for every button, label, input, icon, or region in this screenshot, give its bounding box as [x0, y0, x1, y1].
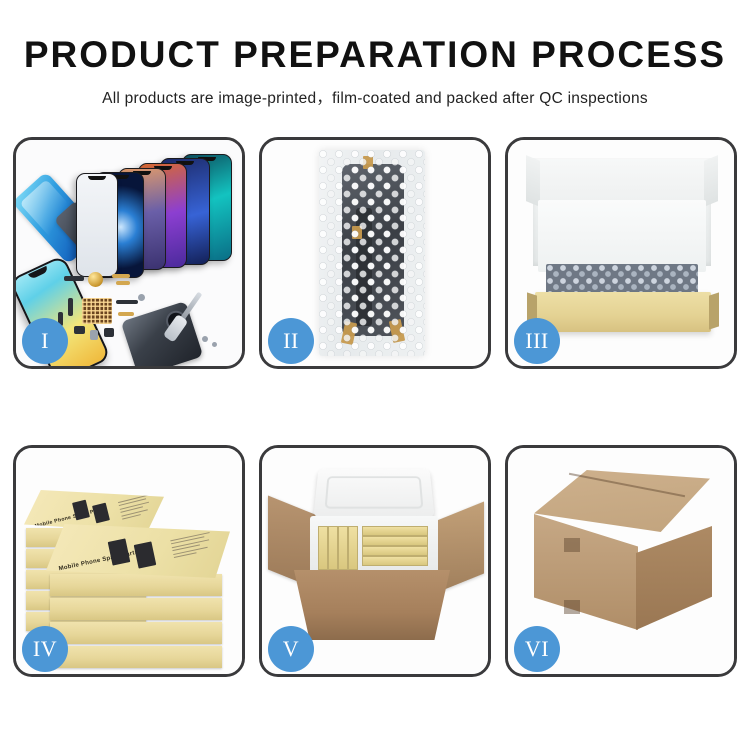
inner-yellow-box: [328, 526, 338, 570]
phone-glass-front-icon: [76, 173, 118, 277]
part-vibrator-icon: [104, 328, 114, 337]
carton-flap-seam-upper-icon: [564, 538, 580, 552]
part-metal-clip-icon: [90, 330, 98, 340]
step-badge-6: VI: [514, 626, 560, 672]
screw-grid-part-icon: [82, 298, 112, 324]
part-strip-icon: [64, 276, 84, 281]
foam-sheet-icon: [538, 200, 706, 272]
step-badge-4: IV: [22, 626, 68, 672]
screw-icon: [202, 336, 208, 342]
bubble-wrap-bag-icon: [319, 150, 425, 356]
foam-container-icon: [310, 516, 438, 578]
stacked-box: [50, 598, 222, 620]
part-button-icon: [138, 294, 145, 301]
part-bracket-icon: [68, 298, 73, 316]
inner-yellow-box: [362, 546, 428, 556]
box-print-thumbnail: [92, 503, 110, 524]
stacked-box: [50, 622, 222, 644]
inner-yellow-box: [362, 526, 428, 536]
page-title: PRODUCT PREPARATION PROCESS: [0, 36, 750, 75]
printed-box-lid-front: Mobile Phone Spare Parts: [46, 524, 230, 578]
process-steps-grid: I II III: [13, 137, 737, 677]
page-subtitle: All products are image-printed，film-coat…: [0, 86, 750, 108]
carton-flap-seam-lower-icon: [564, 600, 580, 614]
phone-fan-group: [86, 154, 242, 279]
yellow-box-tray-icon: [535, 292, 711, 332]
step-panel-5[interactable]: V: [259, 445, 491, 677]
inner-yellow-box: [362, 536, 428, 546]
stacked-box: [50, 574, 222, 596]
part-speaker-icon: [74, 326, 85, 334]
part-ribbon2-icon: [118, 312, 134, 316]
page-header: PRODUCT PREPARATION PROCESS All products…: [0, 0, 750, 108]
bubble-texture: [319, 150, 425, 356]
foam-lid-icon: [313, 468, 434, 518]
inner-yellow-box: [362, 556, 428, 566]
step-panel-2[interactable]: II: [259, 137, 491, 369]
part-ribbon-icon: [116, 300, 138, 304]
screw-2-icon: [212, 342, 217, 347]
step-badge-3: III: [514, 318, 560, 364]
step-panel-3[interactable]: III: [505, 137, 737, 369]
inner-yellow-box: [348, 526, 358, 570]
stacked-box: [50, 646, 222, 668]
step-badge-1: I: [22, 318, 68, 364]
step-badge-2: II: [268, 318, 314, 364]
box-print-thumbnail: [72, 500, 90, 521]
step-badge-5: V: [268, 626, 314, 672]
step-panel-4[interactable]: Mobile Phone Spare Parts Mobile Phone Sp…: [13, 445, 245, 677]
inner-yellow-box: [338, 526, 348, 570]
box-print-textlines: [170, 532, 213, 560]
inner-yellow-box: [318, 526, 328, 570]
box-print-thumbnail: [108, 538, 131, 565]
carton-front-panel-icon: [294, 570, 450, 640]
part-gold-flex2-icon: [116, 281, 130, 285]
camera-lens-part-icon: [88, 272, 103, 287]
box-print-thumbnail: [134, 541, 157, 568]
box-print-textlines: [118, 494, 154, 521]
step-panel-6[interactable]: VI: [505, 445, 737, 677]
step-panel-1[interactable]: I: [13, 137, 245, 369]
part-gold-flex-icon: [112, 274, 130, 278]
